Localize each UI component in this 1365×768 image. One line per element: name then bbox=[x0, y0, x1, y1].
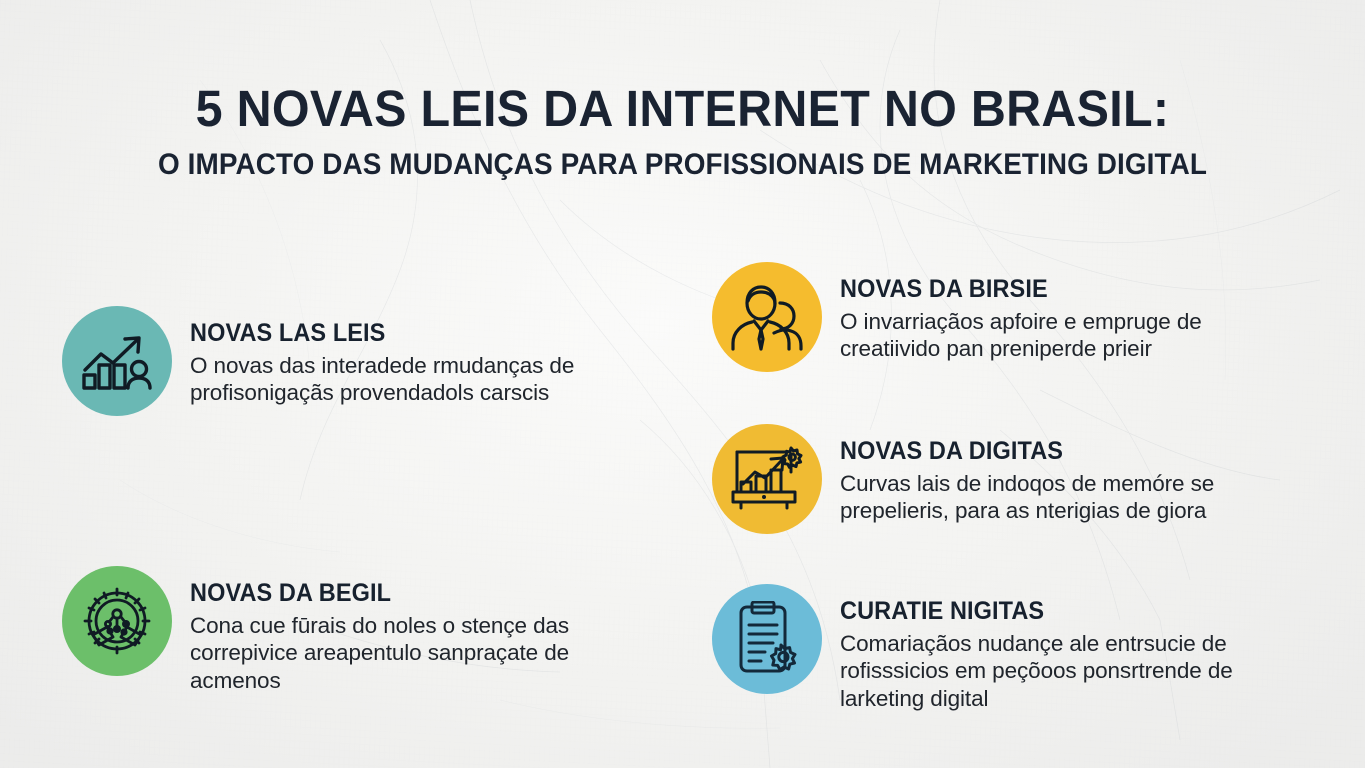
item-heading: NOVAS DA BIRSIE bbox=[840, 276, 1235, 304]
list-item[interactable]: NOVAS DA BIRSIE O invarriaçãos apfoire e… bbox=[712, 262, 1260, 372]
item-body: O invarriaçãos apfoire e empruge de crea… bbox=[840, 308, 1260, 364]
list-item[interactable]: CURATIE NIGITAS Comariaçãos nudançe ale … bbox=[712, 584, 1260, 713]
item-body: Curvas lais de indoqos de memóre se prep… bbox=[840, 470, 1260, 526]
item-body: Cona cue fūrais do noles o stençe das co… bbox=[190, 612, 620, 696]
item-text: CURATIE NIGITAS Comariaçãos nudançe ale … bbox=[822, 584, 1260, 713]
list-item[interactable]: NOVAS LAS LEIS O novas das interadede rm… bbox=[62, 306, 620, 416]
item-body: O novas das interadede rmudanças de prof… bbox=[190, 352, 620, 408]
item-body: Comariaçãos nudançe ale entrsucie de rof… bbox=[840, 630, 1260, 714]
chart-board-gear-icon bbox=[712, 424, 822, 534]
page-title: 5 NOVAS LEIS DA INTERNET NO BRASIL: bbox=[34, 82, 1331, 135]
item-heading: NOVAS DA BEGIL bbox=[190, 580, 594, 608]
clipboard-gear-icon bbox=[712, 584, 822, 694]
list-item[interactable]: NOVAS DA DIGITAS Curvas lais de indoqos … bbox=[712, 424, 1260, 534]
item-heading: NOVAS LAS LEIS bbox=[190, 320, 594, 348]
item-heading: NOVAS DA DIGITAS bbox=[840, 438, 1235, 466]
item-text: NOVAS DA BIRSIE O invarriaçãos apfoire e… bbox=[822, 262, 1260, 363]
list-item[interactable]: NOVAS DA BEGIL Cona cue fūrais do noles … bbox=[62, 566, 620, 695]
two-people-icon bbox=[712, 262, 822, 372]
item-text: NOVAS DA DIGITAS Curvas lais de indoqos … bbox=[822, 424, 1260, 525]
items-area: NOVAS LAS LEIS O novas das interadede rm… bbox=[0, 248, 1365, 748]
item-heading: CURATIE NIGITAS bbox=[840, 598, 1235, 626]
heading-block: 5 NOVAS LEIS DA INTERNET NO BRASIL: O IM… bbox=[0, 82, 1365, 181]
item-text: NOVAS DA BEGIL Cona cue fūrais do noles … bbox=[172, 566, 620, 695]
infographic-page: 5 NOVAS LEIS DA INTERNET NO BRASIL: O IM… bbox=[0, 0, 1365, 768]
page-subtitle: O IMPACTO DAS MUDANÇAS PARA PROFISSIONAI… bbox=[48, 149, 1317, 181]
growth-chart-person-icon bbox=[62, 306, 172, 416]
network-target-icon bbox=[62, 566, 172, 676]
item-text: NOVAS LAS LEIS O novas das interadede rm… bbox=[172, 306, 620, 407]
